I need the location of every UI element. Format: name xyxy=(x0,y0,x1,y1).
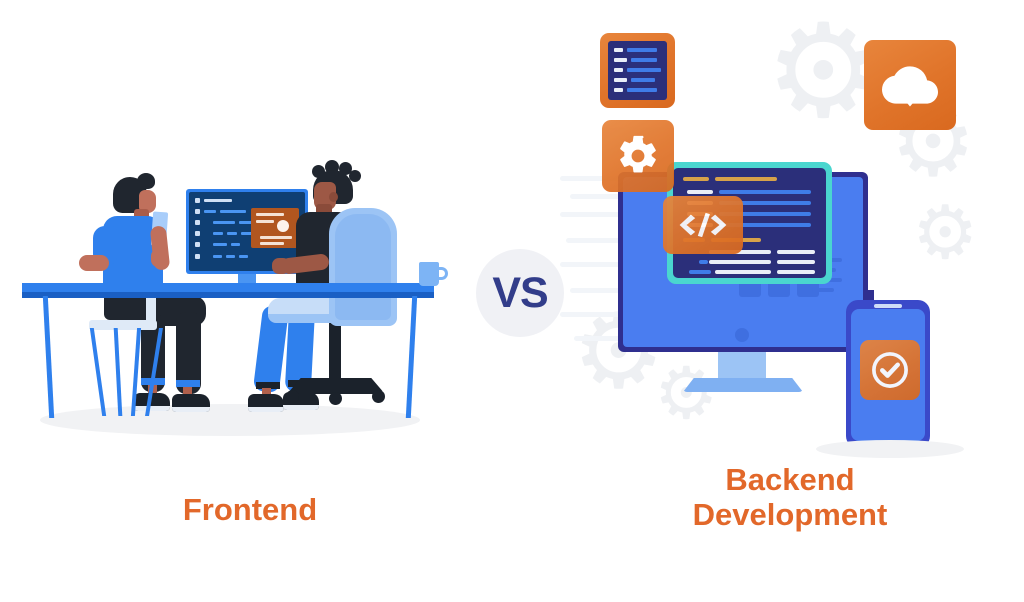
angle-brackets-icon xyxy=(677,210,729,240)
verified-badge[interactable] xyxy=(860,340,920,400)
code-list-icon xyxy=(608,41,667,100)
monitor-power-dot xyxy=(735,328,749,342)
desk-surface xyxy=(22,283,434,292)
office-chair-wheel xyxy=(329,392,342,405)
desk-leg xyxy=(406,296,417,418)
vs-label: VS xyxy=(492,269,547,318)
developer-left-arm xyxy=(79,255,109,271)
coffee-mug xyxy=(419,262,439,286)
developer-left-shoe-sole-near xyxy=(172,407,210,412)
monitor-neck xyxy=(718,352,766,382)
cloud-download-icon xyxy=(881,57,939,113)
cloud-download-badge[interactable] xyxy=(864,40,956,130)
stool-seat xyxy=(89,320,157,330)
developer-right-hand xyxy=(272,258,290,274)
comparison-graphic: VS ⚙ ⚙ ⚙ ⚙ ⚙ xyxy=(0,0,1024,602)
floor-shadow xyxy=(40,404,420,436)
check-circle-icon xyxy=(869,349,911,391)
developer-right-shoe-sole-far xyxy=(248,407,284,412)
backend-label-line2: Development xyxy=(600,498,980,533)
floor-shadow xyxy=(816,440,964,458)
office-chair-wheel xyxy=(372,390,385,403)
gear-icon xyxy=(616,134,660,178)
source-code-badge[interactable] xyxy=(663,196,743,254)
stool-leg xyxy=(90,328,106,416)
coffee-mug-handle xyxy=(437,267,448,280)
developer-left-hair-tuft xyxy=(137,173,155,189)
office-chair-wheel xyxy=(286,390,299,403)
monitor-content-card xyxy=(251,208,299,248)
developer-right-ear xyxy=(329,192,338,202)
smartphone-speaker xyxy=(874,304,902,308)
office-chair-backrest-inner xyxy=(335,214,391,320)
office-chair-post xyxy=(329,320,341,386)
monitor-stand xyxy=(683,378,803,392)
backend-label-line1: Backend xyxy=(600,463,980,498)
developer-left-cuff-near xyxy=(176,380,200,387)
desk-edge xyxy=(22,292,434,298)
settings-badge[interactable] xyxy=(602,120,674,192)
gear-icon: ⚙ xyxy=(912,196,978,270)
developer-left-hand xyxy=(151,249,167,267)
desk-leg xyxy=(43,296,54,418)
developer-right-shoe-sole-near xyxy=(283,405,319,410)
vs-badge: VS xyxy=(476,249,564,337)
frontend-label: Frontend xyxy=(0,492,500,528)
backend-label: Backend Development xyxy=(600,463,980,532)
developer-left-shoe-sole-far xyxy=(134,406,170,411)
code-snippet-badge[interactable] xyxy=(600,33,675,108)
stool-leg xyxy=(114,328,123,416)
gear-icon: ⚙ xyxy=(654,358,719,430)
